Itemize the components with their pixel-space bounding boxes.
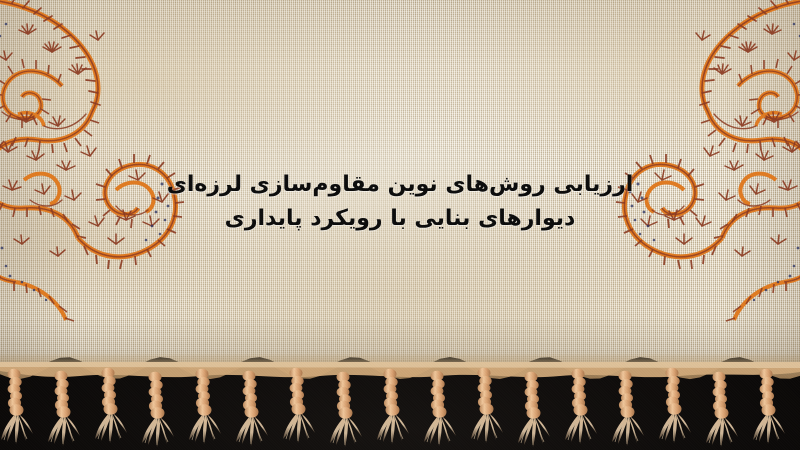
cloth-hem — [0, 352, 800, 380]
page-title: ارزیابی روش‌های نوین مقاوم‌سازی لرزه‌ای … — [0, 168, 800, 236]
title-line-2: دیوارهای بنایی با رویکرد پایداری — [0, 202, 800, 236]
title-line-1: ارزیابی روش‌های نوین مقاوم‌سازی لرزه‌ای — [0, 168, 800, 202]
textile-title-card: ارزیابی روش‌های نوین مقاوم‌سازی لرزه‌ای … — [0, 0, 800, 450]
